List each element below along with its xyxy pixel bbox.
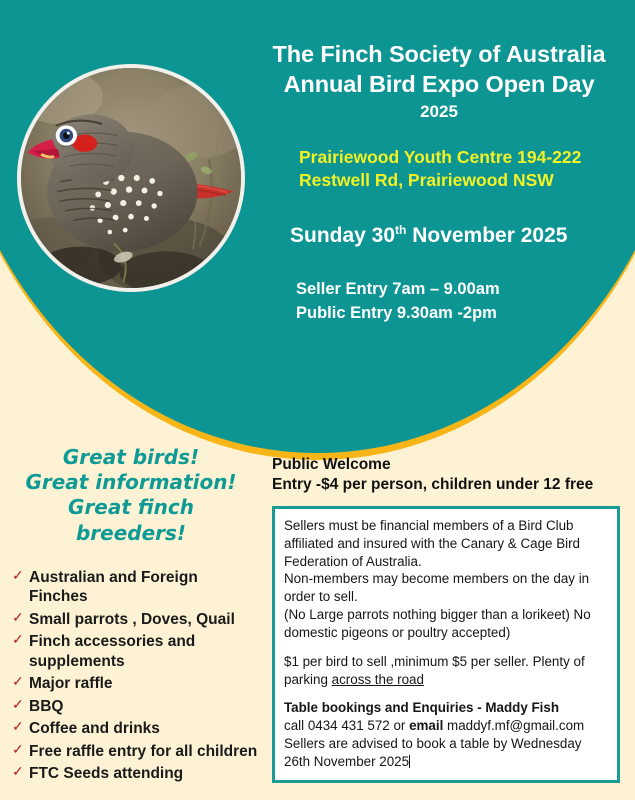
slogan-block: Great birds! Great information! Great fi… bbox=[0, 445, 262, 546]
list-item-label: Australian and Foreign Finches bbox=[29, 569, 198, 606]
seller-membership-para: Sellers must be financial members of a B… bbox=[284, 517, 608, 570]
list-item-label: FTC Seeds attending bbox=[29, 765, 183, 782]
seller-info-box: Sellers must be financial members of a B… bbox=[272, 506, 620, 783]
check-icon: ✓ bbox=[12, 631, 24, 649]
event-date-ordinal: th bbox=[395, 223, 406, 237]
list-item: ✓Finch accessories and supplements bbox=[12, 632, 258, 671]
check-icon: ✓ bbox=[12, 718, 24, 736]
list-item-label: BBQ bbox=[29, 698, 63, 715]
public-welcome-block: Public Welcome Entry -$4 per person, chi… bbox=[272, 455, 635, 496]
left-column: Great birds! Great information! Great fi… bbox=[0, 445, 262, 787]
check-icon: ✓ bbox=[12, 763, 24, 781]
list-item: ✓FTC Seeds attending bbox=[12, 764, 258, 784]
list-item-label: Finch accessories and supplements bbox=[29, 633, 195, 670]
public-entry-time: Public Entry 9.30am -2pm bbox=[296, 302, 628, 326]
list-item-label: Major raffle bbox=[29, 675, 113, 692]
contact-details-line: call 0434 431 572 or email maddyf.mf@gma… bbox=[284, 717, 608, 735]
entry-times: Seller Entry 7am – 9.00am Public Entry 9… bbox=[250, 278, 628, 326]
contact-phone-text: call 0434 431 572 or bbox=[284, 718, 409, 733]
parking-link-text: across the road bbox=[332, 672, 424, 687]
poster-title-line1: The Finch Society of Australia bbox=[250, 40, 628, 70]
list-item-label: Free raffle entry for all children bbox=[29, 743, 257, 760]
list-item-label: Small parrots , Doves, Quail bbox=[29, 611, 235, 628]
booking-deadline-date: 26th November 2025 bbox=[284, 754, 409, 769]
entry-price-line: Entry -$4 per person, children under 12 … bbox=[272, 475, 635, 495]
check-icon: ✓ bbox=[12, 609, 24, 627]
public-welcome-heading: Public Welcome bbox=[272, 455, 635, 475]
event-date-suffix: November 2025 bbox=[406, 224, 567, 247]
venue-address: Prairiewood Youth Centre 194-222 Restwel… bbox=[250, 146, 628, 193]
bird-restrictions-para: (No Large parrots nothing bigger than a … bbox=[284, 606, 608, 642]
list-item: ✓Major raffle bbox=[12, 674, 258, 694]
slogan-line3: Great finch breeders! bbox=[14, 495, 248, 545]
right-column: Public Welcome Entry -$4 per person, chi… bbox=[272, 455, 635, 783]
list-item: ✓Coffee and drinks bbox=[12, 719, 258, 739]
text-caret bbox=[409, 755, 410, 768]
check-icon: ✓ bbox=[12, 567, 24, 585]
poster-title: The Finch Society of Australia Annual Bi… bbox=[250, 40, 628, 100]
poster-title-line2: Annual Bird Expo Open Day bbox=[250, 70, 628, 100]
event-date: Sunday 30th November 2025 bbox=[250, 223, 628, 248]
list-item: ✓Australian and Foreign Finches bbox=[12, 568, 258, 607]
check-icon: ✓ bbox=[12, 741, 24, 759]
venue-line1: Prairiewood Youth Centre 194-222 bbox=[299, 146, 628, 170]
event-date-prefix: Sunday 30 bbox=[290, 224, 395, 247]
list-item: ✓Free raffle entry for all children bbox=[12, 742, 258, 762]
list-item-label: Coffee and drinks bbox=[29, 720, 160, 737]
contact-heading: Table bookings and Enquiries - Maddy Fis… bbox=[284, 699, 608, 717]
poster-year: 2025 bbox=[250, 102, 628, 122]
slogan-line2: Great information! bbox=[14, 470, 248, 495]
email-label: email bbox=[409, 718, 443, 733]
slogan-line1: Great birds! bbox=[14, 445, 248, 470]
seller-entry-time: Seller Entry 7am – 9.00am bbox=[296, 278, 628, 302]
features-checklist: ✓Australian and Foreign Finches ✓Small p… bbox=[0, 568, 262, 784]
check-icon: ✓ bbox=[12, 696, 24, 714]
header-text-block: The Finch Society of Australia Annual Bi… bbox=[250, 40, 628, 326]
finch-photo bbox=[17, 64, 245, 292]
venue-line2: Restwell Rd, Prairiewood NSW bbox=[299, 169, 628, 193]
check-icon: ✓ bbox=[12, 673, 24, 691]
fees-parking-para: $1 per bird to sell ,minimum $5 per sell… bbox=[284, 653, 608, 689]
list-item: ✓Small parrots , Doves, Quail bbox=[12, 610, 258, 630]
list-item: ✓BBQ bbox=[12, 697, 258, 717]
finch-photo-image bbox=[21, 68, 241, 288]
booking-deadline-line2: 26th November 2025 bbox=[284, 753, 608, 771]
poster-flyer: The Finch Society of Australia Annual Bi… bbox=[0, 0, 635, 800]
fees-text: $1 per bird to sell ,minimum $5 per sell… bbox=[284, 654, 585, 687]
non-members-para: Non-members may become members on the da… bbox=[284, 570, 608, 606]
booking-deadline-line1: Sellers are advised to book a table by W… bbox=[284, 735, 608, 753]
contact-email-address: maddyf.mf@gmail.com bbox=[443, 718, 584, 733]
